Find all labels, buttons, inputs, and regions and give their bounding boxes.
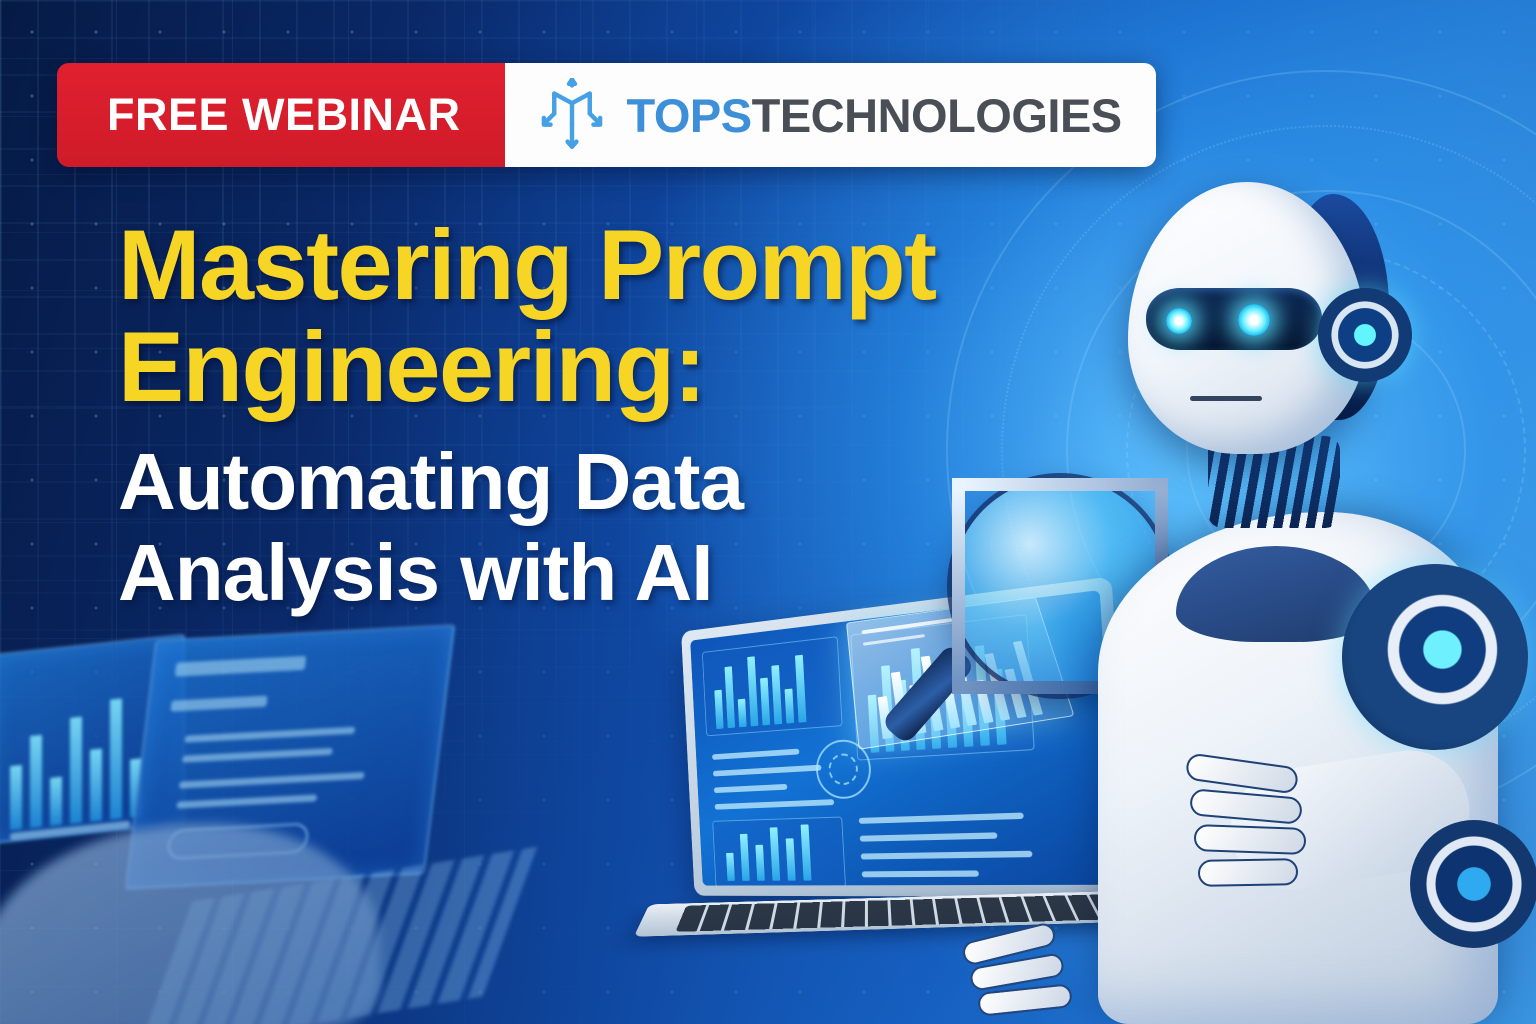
laptop-artwork [646,606,1206,966]
robot-hand-on-keyboard [962,932,1122,1024]
badge-label: FREE WEBINAR [107,89,461,141]
company-name: TOPSTECHNOLOGIES [627,92,1122,139]
company-logo-panel: TOPSTECHNOLOGIES [505,63,1156,167]
headline-block: Mastering Prompt Engineering: Automating… [118,214,1078,616]
robot-hand-holding-magnifier [1186,760,1336,892]
robot-ear-module [1318,288,1412,382]
typing-hands [0,824,380,1024]
robot-shoulder-joint [1342,564,1528,750]
holographic-chart-panel [846,597,1075,750]
robot-illustration [1080,160,1536,1024]
logo-text-primary: TOPS [627,89,752,142]
logo-text-secondary: TECHNOLOGIES [752,89,1122,142]
robot-eye-right [1238,304,1270,336]
laptop-screen-dashboard [690,590,1118,886]
headline-line-2: Engineering: [118,316,1078,418]
laptop-base [634,890,1192,937]
headline-line-1: Mastering Prompt [118,214,1078,316]
subheadline-line-2: Analysis with AI [118,531,1078,616]
robot-head [1128,182,1366,454]
webinar-promo-banner: FREE WEBINAR TOPSTECHNOLOGIES Mastering … [0,0,1536,1024]
robot-elbow-joint [1410,820,1536,948]
laptop-lid [681,576,1131,897]
header-bar: FREE WEBINAR TOPSTECHNOLOGIES [57,63,1156,167]
robot-eye-left [1166,308,1192,334]
laptop-keyboard [675,894,1140,932]
background-keyboard [138,847,538,1024]
background-monitor-left [0,634,185,844]
isometric-cube-arrows-icon [535,78,609,152]
desk-scene-artwork [0,624,500,1024]
background-monitor-right [125,624,456,890]
free-webinar-badge: FREE WEBINAR [57,63,505,167]
subheadline-line-1: Automating Data [118,440,1078,525]
